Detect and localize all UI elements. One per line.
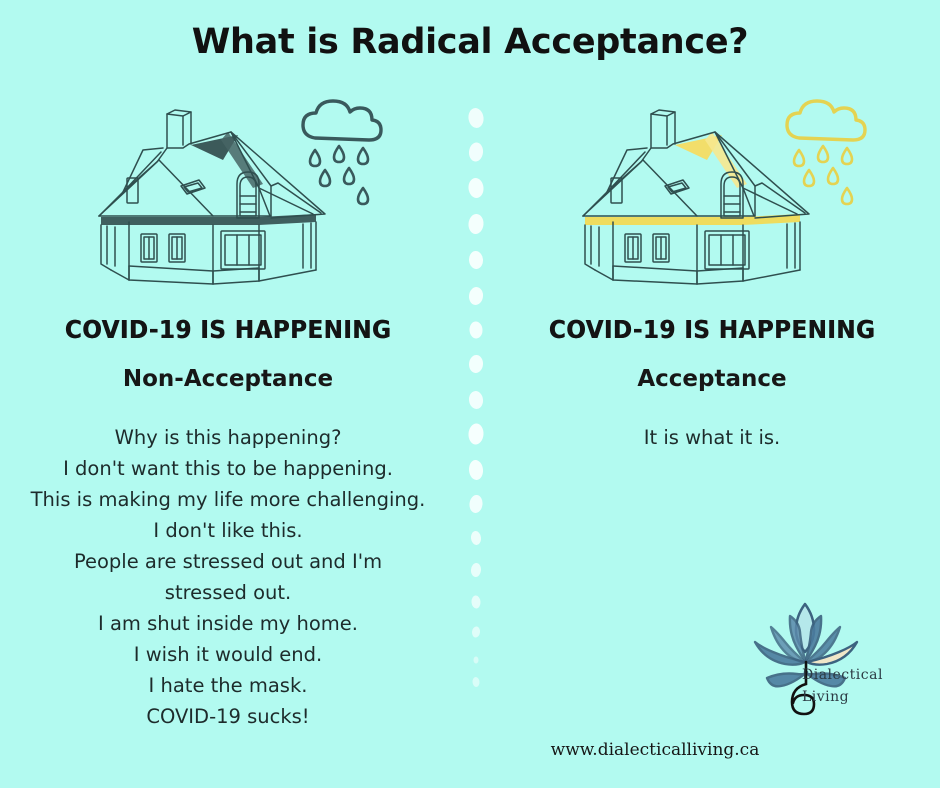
website-url[interactable]: www.dialecticalliving.ca <box>551 740 760 760</box>
house-rain-svg <box>63 88 393 293</box>
list-item: I don't like this. <box>14 515 442 546</box>
logo-word-line-2: Living <box>802 686 883 708</box>
list-item: stressed out. <box>14 577 442 608</box>
heading-covid-left: COVID-19 IS HAPPENING <box>26 315 431 344</box>
list-item: It is what it is. <box>498 422 926 453</box>
list-item: I am shut inside my home. <box>14 608 442 639</box>
panel-non-acceptance: COVID-19 IS HAPPENING Non-Acceptance Why… <box>8 88 448 732</box>
house-sun-svg <box>547 88 877 293</box>
non-acceptance-thought-list: Why is this happening? I don't want this… <box>8 422 448 732</box>
page-title: What is Radical Acceptance? <box>0 22 940 62</box>
vertical-dashed-divider <box>462 104 490 704</box>
yellow-raindrops-icon <box>794 146 852 204</box>
panel-acceptance: COVID-19 IS HAPPENING Acceptance It is w… <box>492 88 932 453</box>
list-item: COVID-19 sucks! <box>14 701 442 732</box>
list-item: People are stressed out and I'm <box>14 546 442 577</box>
list-item: I hate the mask. <box>14 670 442 701</box>
logo-word-line-1: Dialectical <box>802 664 883 686</box>
house-with-sunny-cloud-illustration <box>492 88 932 293</box>
infographic-poster: What is Radical Acceptance? <box>0 0 940 788</box>
acceptance-thought-list: It is what it is. <box>492 422 932 453</box>
heading-covid-right: COVID-19 IS HAPPENING <box>510 315 915 344</box>
list-item: Why is this happening? <box>14 422 442 453</box>
house-with-rain-cloud-illustration <box>8 88 448 293</box>
logo-wordmark: Dialectical Living <box>802 664 883 708</box>
dialectical-living-logo: Dialectical Living <box>745 592 925 727</box>
raindrops-icon <box>310 146 368 204</box>
list-item: This is making my life more challenging. <box>14 484 442 515</box>
rain-cloud-icon <box>303 101 381 140</box>
sunny-cloud-icon <box>787 101 865 140</box>
list-item: I wish it would end. <box>14 639 442 670</box>
subheading-non-acceptance: Non-Acceptance <box>8 366 448 392</box>
divider-dashes <box>462 104 490 704</box>
list-item: I don't want this to be happening. <box>14 453 442 484</box>
footer-url-row: www.dialecticalliving.ca <box>0 740 940 760</box>
subheading-acceptance: Acceptance <box>492 366 932 392</box>
